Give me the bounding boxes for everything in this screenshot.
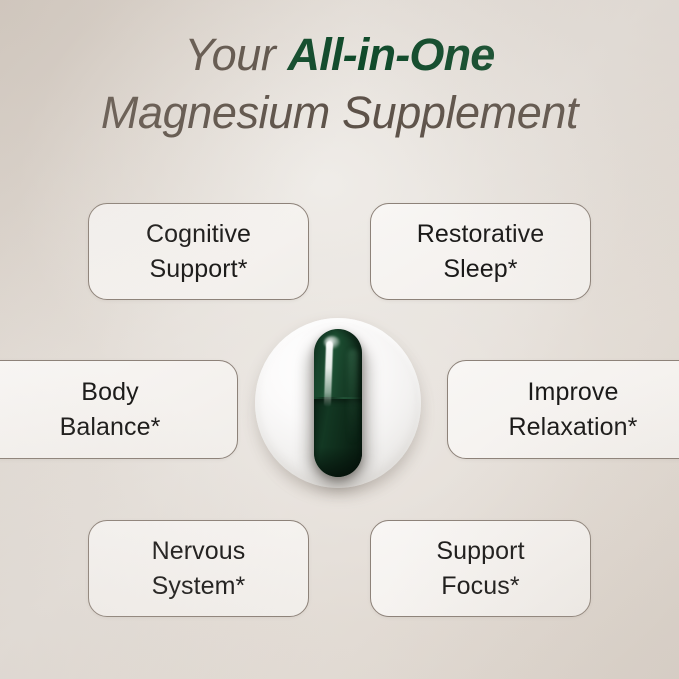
capsule-right-sheen	[348, 349, 358, 445]
benefit-card-line-1: Cognitive	[146, 217, 251, 252]
capsule-top-highlight	[324, 336, 340, 349]
benefit-card-sleep: Restorative Sleep*	[370, 203, 591, 300]
benefit-card-line-2: Support*	[149, 252, 247, 287]
product-capsule-photo	[241, 305, 437, 503]
promo-graphic: Your All-in-One Magnesium Supplement Cog…	[0, 0, 679, 679]
headline-line-1: Your All-in-One	[0, 26, 679, 84]
benefit-card-cognitive: Cognitive Support*	[88, 203, 309, 300]
benefit-card-line-2: Focus*	[441, 569, 519, 604]
benefit-card-body-balance: Body Balance*	[0, 360, 238, 459]
benefit-card-line-1: Body	[81, 375, 138, 410]
benefit-card-line-1: Improve	[527, 375, 618, 410]
green-capsule-icon	[314, 329, 362, 477]
benefit-card-line-2: Relaxation*	[509, 410, 638, 445]
benefit-card-line-2: Balance*	[60, 410, 161, 445]
benefit-card-line-1: Nervous	[152, 534, 246, 569]
benefit-card-nervous-system: Nervous System*	[88, 520, 309, 617]
headline-line-2: Magnesium Supplement	[0, 84, 679, 142]
page-title: Your All-in-One Magnesium Supplement	[0, 26, 679, 142]
benefit-card-line-2: Sleep*	[443, 252, 517, 287]
headline-prefix: Your	[184, 29, 287, 80]
benefit-card-line-1: Support	[436, 534, 524, 569]
benefit-card-line-2: System*	[152, 569, 246, 604]
benefit-card-relaxation: Improve Relaxation*	[447, 360, 679, 459]
benefit-card-support-focus: Support Focus*	[370, 520, 591, 617]
headline-accent: All-in-One	[288, 29, 495, 80]
benefit-card-line-1: Restorative	[417, 217, 545, 252]
